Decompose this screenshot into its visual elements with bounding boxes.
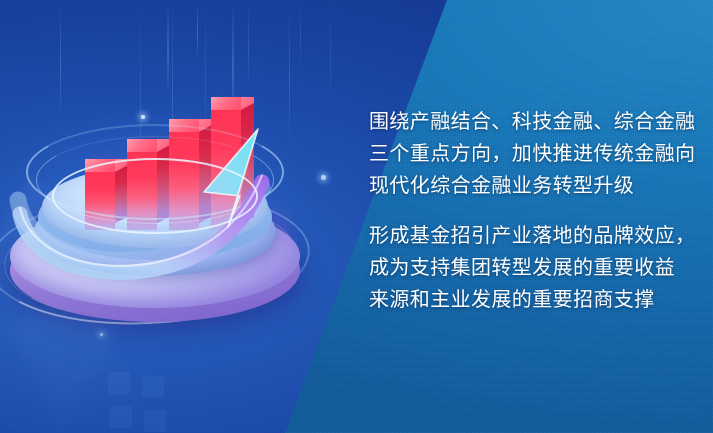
podium-deck-highlight-ring xyxy=(52,158,258,234)
paragraph-strategy-directions: 围绕产融结合、科技金融、综合金融 三个重点方向，加快推进传统金融向 现代化综合金… xyxy=(369,106,699,202)
copy-block: 围绕产融结合、科技金融、综合金融 三个重点方向，加快推进传统金融向 现代化综合金… xyxy=(369,106,699,316)
growth-chart-illustration xyxy=(0,96,340,356)
paragraph-brand-effect: 形成基金招引产业落地的品牌效应， 成为支持集团转型发展的重要收益 来源和主业发展… xyxy=(369,220,699,316)
banner-root: 围绕产融结合、科技金融、综合金融 三个重点方向，加快推进传统金融向 现代化综合金… xyxy=(0,0,713,433)
